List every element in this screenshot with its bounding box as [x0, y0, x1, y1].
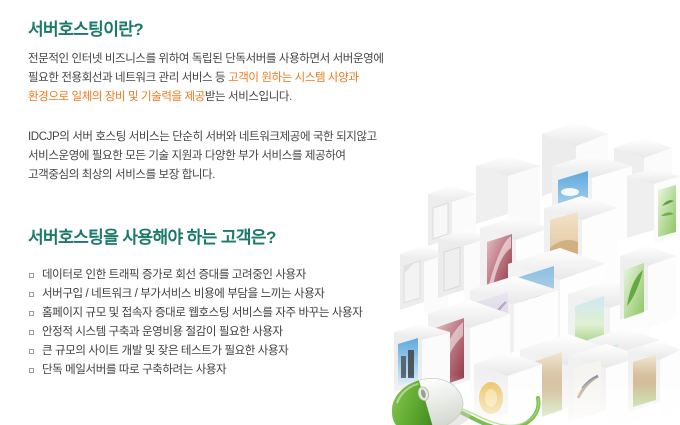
square-bullet-icon [29, 368, 34, 373]
paragraph-text-highlight: 고객이 원하는 시스템 사양과 [228, 72, 359, 84]
list-item: 단독 메일서버를 따로 구축하려는 사용자 [28, 361, 362, 380]
paragraph-line: IDCJP의 서버 호스팅 서비스는 단순히 서버와 네트워크제공에 국한 되지… [28, 128, 377, 147]
paragraph-line: 필요한 전용회선과 네트워크 관리 서비스 등 고객이 원하는 시스템 사양과 [28, 69, 384, 88]
paragraph-text-plain: 필요한 전용회선과 네트워크 관리 서비스 등 [28, 72, 228, 84]
list-item: 홈페이지 규모 및 접속자 증대로 웹호스팅 서비스를 자주 바꾸는 사용자 [28, 304, 362, 323]
customer-type-list: 데이터로 인한 트래픽 증가로 회선 증대를 고려중인 사용자 서버구입 / 네… [28, 266, 362, 380]
paragraph-line: 환경으로 일체의 장비 및 기술력을 제공받는 서비스입니다. [28, 88, 384, 107]
list-item: 안정적 시스템 구축과 운영비용 절감이 필요한 사용자 [28, 323, 362, 342]
paragraph-line: 서비스운영에 필요한 모든 기술 지원과 다양한 부가 서비스를 제공하여 [28, 147, 377, 166]
list-item-label: 안정적 시스템 구축과 운영비용 절감이 필요한 사용자 [42, 326, 283, 338]
square-bullet-icon [29, 311, 34, 316]
list-item-label: 데이터로 인한 트래픽 증가로 회선 증대를 고려중인 사용자 [42, 269, 306, 281]
intro-paragraph-2: IDCJP의 서버 호스팅 서비스는 단순히 서버와 네트워크제공에 국한 되지… [28, 128, 377, 185]
square-bullet-icon [29, 273, 34, 278]
list-item: 큰 규모의 사이트 개발 및 잦은 테스트가 필요한 사용자 [28, 342, 362, 361]
cube-sky-right [627, 168, 680, 244]
intro-paragraph-1: 전문적인 인터넷 비즈니스를 위하여 독립된 단독서버를 사용하면서 서버운영에… [28, 50, 384, 107]
square-bullet-icon [29, 292, 34, 297]
paragraph-line: 고객중심의 최상의 서비스를 보장 합니다. [28, 166, 377, 185]
list-item: 서버구입 / 네트워크 / 부가서비스 비용에 부담을 느끼는 사용자 [28, 285, 362, 304]
paragraph-text-plain: 받는 서비스입니다. [205, 91, 292, 103]
list-item-label: 서버구입 / 네트워크 / 부가서비스 비용에 부담을 느끼는 사용자 [42, 288, 324, 300]
list-item-label: 홈페이지 규모 및 접속자 증대로 웹호스팅 서비스를 자주 바꾸는 사용자 [42, 307, 362, 319]
section-heading-intro: 서버호스팅이란? [28, 20, 143, 40]
section-heading-customers: 서버호스팅을 사용해야 하는 고객은? [28, 228, 276, 248]
paragraph-text-highlight: 환경으로 일체의 장비 및 기술력을 제공 [28, 91, 205, 103]
list-item: 데이터로 인한 트래픽 증가로 회선 증대를 고려중인 사용자 [28, 266, 362, 285]
list-item-label: 단독 메일서버를 따로 구축하려는 사용자 [42, 364, 226, 376]
square-bullet-icon [29, 349, 34, 354]
cube-leaf [620, 246, 676, 328]
paragraph-line: 전문적인 인터넷 비즈니스를 위하여 독립된 단독서버를 사용하면서 서버운영에 [28, 50, 384, 69]
3d-cube-collage-with-mouse [392, 88, 680, 425]
square-bullet-icon [29, 330, 34, 335]
list-item-label: 큰 규모의 사이트 개발 및 잦은 테스트가 필요한 사용자 [42, 345, 288, 357]
page-root: 서버호스팅이란? 전문적인 인터넷 비즈니스를 위하여 독립된 단독서버를 사용… [0, 0, 680, 425]
